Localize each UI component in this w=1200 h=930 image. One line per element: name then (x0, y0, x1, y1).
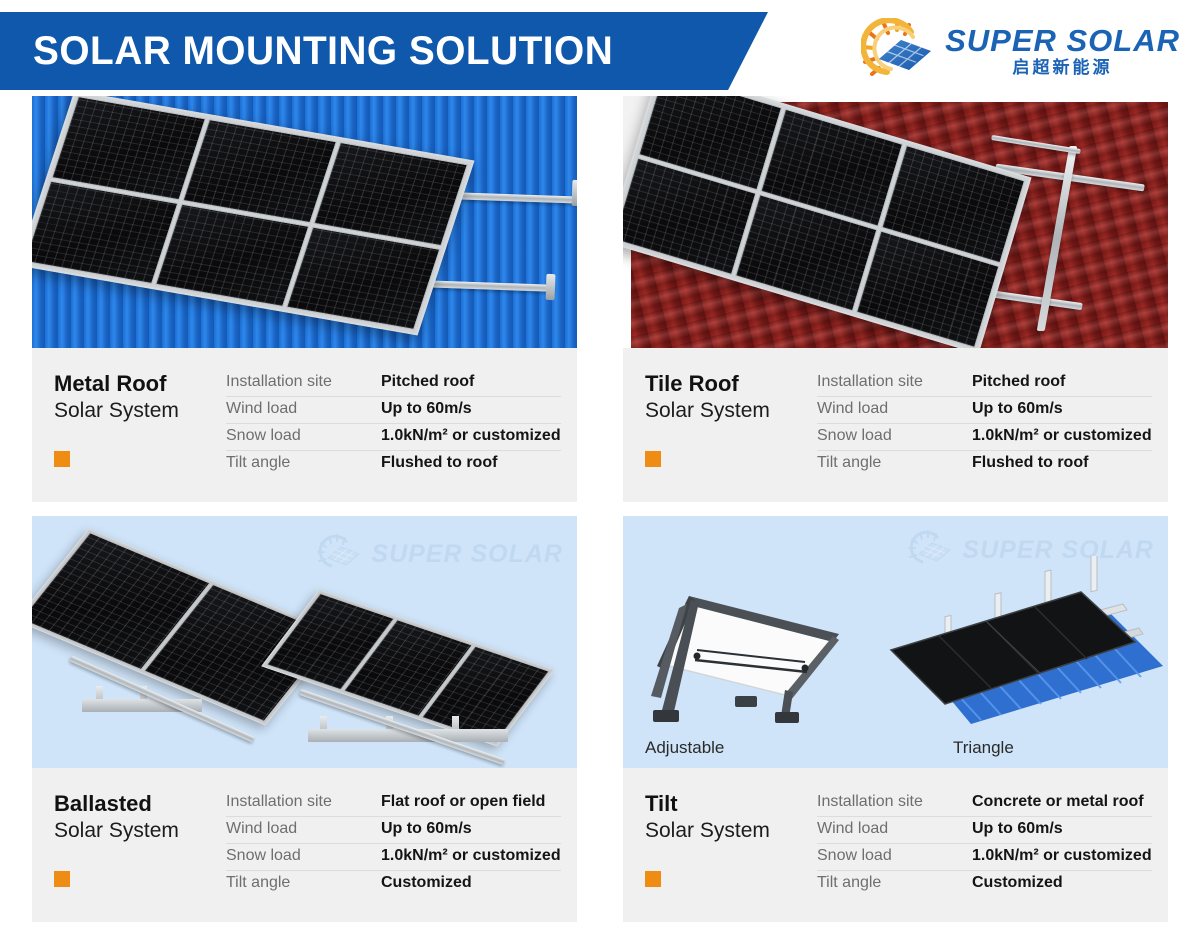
product-card-grid: Metal Roof Solar System Installation sit… (32, 96, 1168, 922)
spec-row: Snow load 1.0kN/m² or customized (817, 843, 1152, 870)
spec-row: Tilt angle Flushed to roof (817, 450, 1152, 477)
ballasted-specs: Ballasted Solar System Installation site… (32, 768, 577, 922)
system-title-block: Tile Roof Solar System (645, 366, 817, 482)
tile-roof-photo (623, 96, 1168, 348)
card-tile-roof[interactable]: Tile Roof Solar System Installation site… (623, 96, 1168, 502)
spec-value: 1.0kN/m² or customized (972, 427, 1152, 445)
spec-row: Installation site Pitched roof (226, 370, 561, 396)
solar-panel-watermark-icon (317, 534, 363, 574)
spec-value: Flushed to roof (381, 454, 497, 472)
spec-value: Customized (381, 874, 472, 892)
spec-value: 1.0kN/m² or customized (972, 847, 1152, 865)
system-name: Tilt (645, 791, 817, 817)
caption-adjustable: Adjustable (645, 738, 724, 758)
watermark-text: SUPER SOLAR (371, 540, 563, 569)
spec-table: Installation site Flat roof or open fiel… (226, 786, 561, 902)
sun-solar-panel-icon (861, 18, 939, 84)
orange-square-marker (54, 451, 70, 467)
ballasted-array-left (52, 568, 302, 686)
orange-square-marker (645, 871, 661, 887)
system-name: Ballasted (54, 791, 226, 817)
system-subtitle: Solar System (54, 398, 226, 423)
spec-value: Customized (972, 874, 1063, 892)
spec-value: Up to 60m/s (972, 820, 1063, 838)
card-tilt[interactable]: SUPER SOLAR (623, 516, 1168, 922)
tilt-photo: SUPER SOLAR (623, 516, 1168, 768)
spec-label: Wind load (226, 820, 381, 838)
system-name: Metal Roof (54, 371, 226, 397)
spec-row: Installation site Flat roof or open fiel… (226, 790, 561, 816)
ballasted-scene: SUPER SOLAR (32, 516, 577, 768)
spec-label: Installation site (817, 373, 972, 391)
spec-label: Installation site (226, 793, 381, 811)
spec-table: Installation site Pitched roof Wind load… (817, 366, 1152, 482)
tilt-specs: Tilt Solar System Installation site Conc… (623, 768, 1168, 922)
spec-label: Tilt angle (817, 874, 972, 892)
metal-roof-specs: Metal Roof Solar System Installation sit… (32, 348, 577, 502)
rail-foot (546, 274, 556, 300)
spec-value: Pitched roof (381, 373, 474, 391)
brand-logo: SUPER SOLAR 启超新能源 (861, 16, 1180, 86)
orange-square-marker (54, 871, 70, 887)
spec-label: Wind load (817, 820, 972, 838)
adjustable-mount-structure (639, 578, 869, 718)
spec-value: Up to 60m/s (972, 400, 1063, 418)
title-banner: SOLAR MOUNTING SOLUTION (0, 12, 768, 90)
page-header: SOLAR MOUNTING SOLUTION (0, 0, 1200, 96)
spec-row: Installation site Pitched roof (817, 370, 1152, 396)
tile-roof-specs: Tile Roof Solar System Installation site… (623, 348, 1168, 502)
tilt-captions: Adjustable Triangle (623, 728, 1168, 768)
caption-triangle: Triangle (953, 738, 1014, 758)
spec-row: Wind load Up to 60m/s (817, 816, 1152, 843)
tile-roof-mount-scene (623, 96, 1168, 348)
logo-chinese-name: 启超新能源 (1013, 60, 1113, 77)
spec-row: Tilt angle Flushed to roof (226, 450, 561, 477)
spec-row: Wind load Up to 60m/s (817, 396, 1152, 423)
spec-row: Installation site Concrete or metal roof (817, 790, 1152, 816)
spec-value: Pitched roof (972, 373, 1065, 391)
spec-table: Installation site Pitched roof Wind load… (226, 366, 561, 482)
card-ballasted[interactable]: SUPER SOLAR (32, 516, 577, 922)
spec-row: Tilt angle Customized (817, 870, 1152, 897)
spec-row: Snow load 1.0kN/m² or customized (226, 423, 561, 450)
spec-label: Snow load (226, 427, 381, 445)
spec-label: Wind load (817, 400, 972, 418)
spec-label: Tilt angle (817, 454, 972, 472)
spec-label: Installation site (817, 793, 972, 811)
spec-value: Concrete or metal roof (972, 793, 1144, 811)
spec-value: 1.0kN/m² or customized (381, 847, 561, 865)
page-title: SOLAR MOUNTING SOLUTION (33, 29, 613, 74)
ballasted-array-right (290, 620, 526, 716)
watermark: SUPER SOLAR (317, 534, 563, 574)
spec-label: Installation site (226, 373, 381, 391)
spec-row: Wind load Up to 60m/s (226, 396, 561, 423)
spec-row: Wind load Up to 60m/s (226, 816, 561, 843)
spec-value: Up to 60m/s (381, 400, 472, 418)
rail-foot (572, 180, 577, 206)
spec-table: Installation site Concrete or metal roof… (817, 786, 1152, 902)
metal-roof-photo (32, 96, 577, 348)
system-title-block: Ballasted Solar System (54, 786, 226, 902)
solar-panel-array (623, 96, 1031, 348)
spec-row: Snow load 1.0kN/m² or customized (817, 423, 1152, 450)
spec-label: Snow load (817, 427, 972, 445)
logo-wordmark: SUPER SOLAR 启超新能源 (945, 25, 1180, 77)
spec-label: Wind load (226, 400, 381, 418)
spec-label: Tilt angle (226, 454, 381, 472)
system-subtitle: Solar System (54, 818, 226, 843)
card-metal-roof[interactable]: Metal Roof Solar System Installation sit… (32, 96, 577, 502)
spec-row: Snow load 1.0kN/m² or customized (226, 843, 561, 870)
solar-panel-array (32, 96, 475, 335)
spec-value: 1.0kN/m² or customized (381, 427, 561, 445)
logo-name: SUPER SOLAR (945, 25, 1180, 56)
spec-label: Snow load (226, 847, 381, 865)
system-subtitle: Solar System (645, 398, 817, 423)
spec-row: Tilt angle Customized (226, 870, 561, 897)
system-name: Tile Roof (645, 371, 817, 397)
orange-square-marker (645, 451, 661, 467)
spec-value: Up to 60m/s (381, 820, 472, 838)
spec-label: Snow load (817, 847, 972, 865)
metal-roof-scene (32, 96, 577, 348)
system-subtitle: Solar System (645, 818, 817, 843)
spec-label: Tilt angle (226, 874, 381, 892)
triangle-mount-structure (873, 556, 1163, 736)
spec-value: Flushed to roof (972, 454, 1088, 472)
ballasted-photo: SUPER SOLAR (32, 516, 577, 768)
system-title-block: Tilt Solar System (645, 786, 817, 902)
mount-rail (991, 135, 1081, 154)
system-title-block: Metal Roof Solar System (54, 366, 226, 482)
spec-value: Flat roof or open field (381, 793, 545, 811)
